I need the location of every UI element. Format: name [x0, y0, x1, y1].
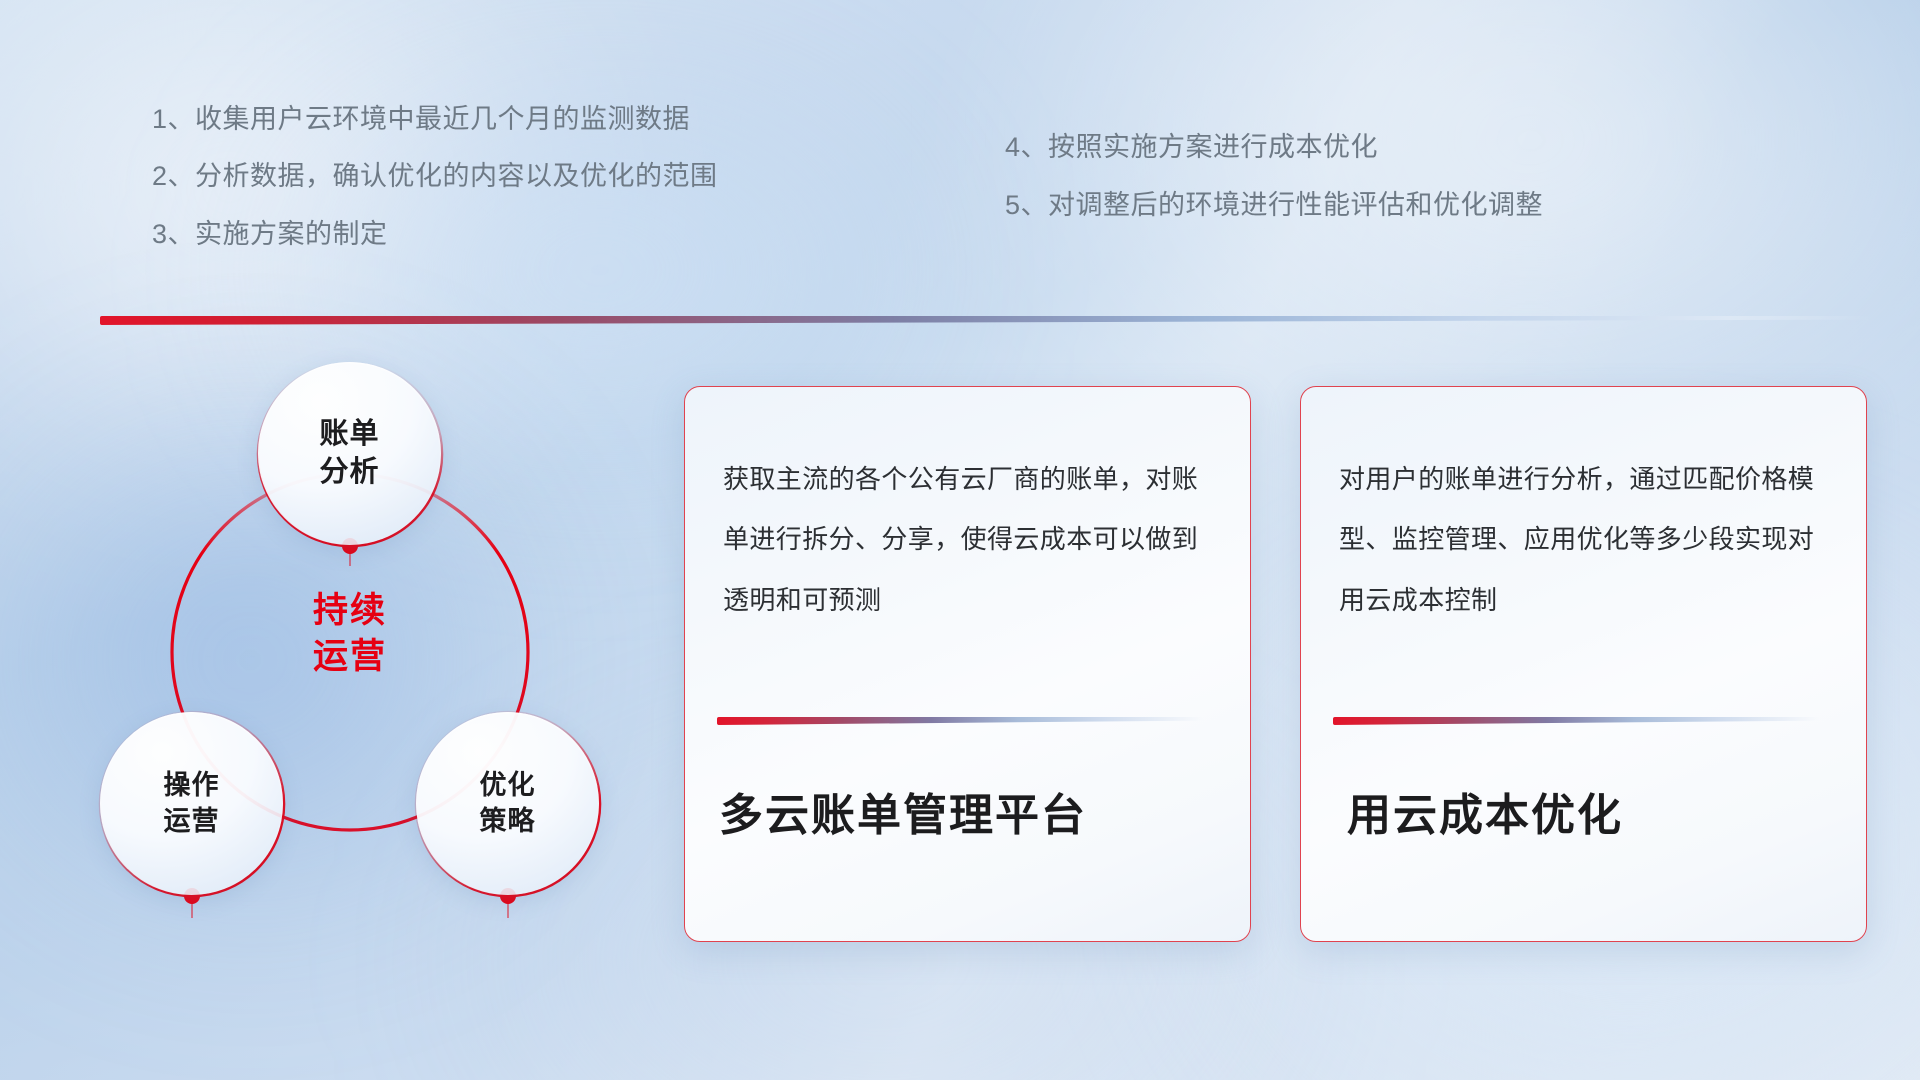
venn-bubble-line2: 运营: [164, 806, 220, 836]
card-description: 获取主流的各个公有云厂商的账单，对账单进行拆分、分享，使得云成本可以做到透明和可…: [723, 449, 1220, 630]
venn-bubble-label: 账单 分析: [319, 416, 379, 491]
venn-bubble-line2: 分析: [319, 456, 379, 488]
venn-center-line1: 持续: [313, 591, 387, 630]
feature-card-cost-optimization[interactable]: 对用户的账单进行分析，通过匹配价格模型、监控管理、应用优化等多少段实现对用云成本…: [1300, 386, 1867, 942]
venn-bubble-optimization-strategy[interactable]: 优化 策略: [416, 712, 599, 895]
slide-canvas: 1、收集用户云环境中最近几个月的监测数据 2、分析数据，确认优化的内容以及优化的…: [0, 0, 1920, 1080]
venn-bubble-line1: 操作: [164, 770, 220, 800]
card-accent-rule: [717, 717, 1203, 725]
venn-diagram: 账单 分析 操作 运营 优化 策略 持续 运营: [92, 352, 652, 942]
venn-center-label: 持续 运营: [92, 588, 608, 679]
steps-list: 1、收集用户云环境中最近几个月的监测数据 2、分析数据，确认优化的内容以及优化的…: [0, 106, 1920, 286]
venn-bubble-operations[interactable]: 操作 运营: [100, 712, 283, 895]
venn-bubble-label: 操作 运营: [164, 768, 220, 838]
step-item-5: 5、对调整后的环境进行性能评估和优化调整: [1005, 192, 1543, 219]
venn-bubble-line2: 策略: [480, 806, 536, 836]
step-item-1: 1、收集用户云环境中最近几个月的监测数据: [152, 106, 690, 133]
step-item-4: 4、按照实施方案进行成本优化: [1005, 134, 1378, 161]
card-accent-rule: [1333, 717, 1819, 725]
venn-bubble-label: 优化 策略: [480, 768, 536, 838]
card-description: 对用户的账单进行分析，通过匹配价格模型、监控管理、应用优化等多少段实现对用云成本…: [1339, 449, 1836, 630]
card-title: 多云账单管理平台: [719, 779, 1087, 843]
venn-bubble-line1: 优化: [480, 770, 536, 800]
venn-bubble-line1: 账单: [319, 418, 379, 450]
venn-bubble-billing-analysis[interactable]: 账单 分析: [258, 362, 441, 545]
step-item-3: 3、实施方案的制定: [152, 221, 388, 248]
step-item-2: 2、分析数据，确认优化的内容以及优化的范围: [152, 163, 718, 190]
feature-card-multicloud-billing[interactable]: 获取主流的各个公有云厂商的账单，对账单进行拆分、分享，使得云成本可以做到透明和可…: [684, 386, 1251, 942]
venn-center-line2: 运营: [313, 637, 387, 676]
card-title: 用云成本优化: [1347, 779, 1623, 843]
